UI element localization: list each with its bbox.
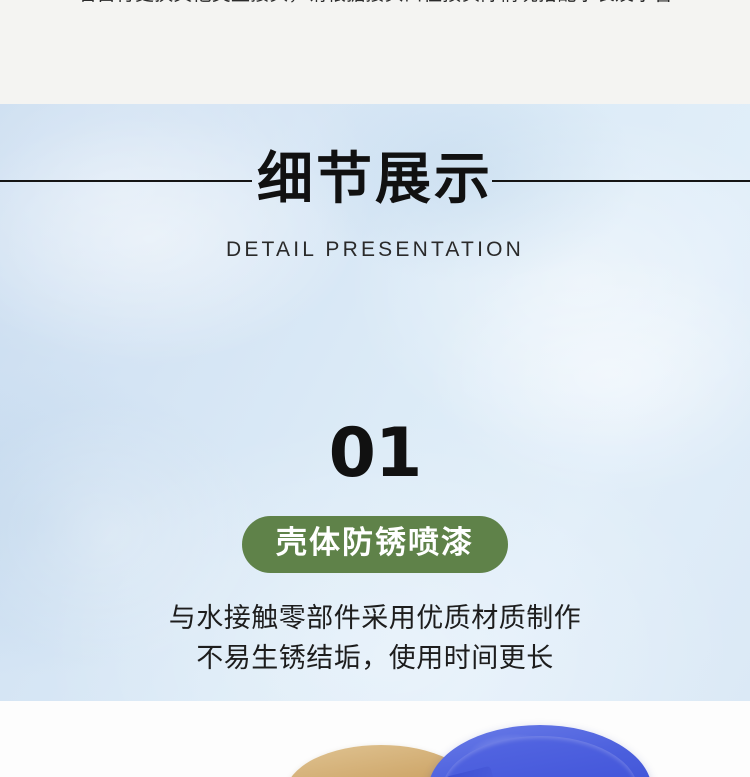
heading-rule-left <box>0 180 252 182</box>
previous-section-strip: 若自行更换其他类型接头，请根据接头口径按实际情况搭配水表及水管 <box>0 0 750 104</box>
feature-description: 与水接触零部件采用优质材质制作 不易生锈结垢，使用时间更长 <box>0 599 750 679</box>
product-photo-strip <box>0 701 750 777</box>
section-heading: 细节展示 DETAIL PRESENTATION <box>0 134 750 262</box>
clipped-note-text: 若自行更换其他类型接头，请根据接头口径按实际情况搭配水表及水管 <box>0 0 750 8</box>
feature-description-line-1: 与水接触零部件采用优质材质制作 <box>0 599 750 639</box>
page-subtitle: DETAIL PRESENTATION <box>0 238 750 262</box>
page-title: 细节展示 <box>241 152 509 208</box>
feature-description-line-2: 不易生锈结垢，使用时间更长 <box>0 639 750 679</box>
blue-plastic-cap-image <box>428 725 652 777</box>
feature-number: 01 <box>0 420 750 488</box>
heading-rule-right <box>492 180 750 182</box>
feature-block-01: 01 壳体防锈喷漆 与水接触零部件采用优质材质制作 不易生锈结垢，使用时间更长 <box>0 420 750 679</box>
heading-row: 细节展示 <box>0 134 750 226</box>
detail-presentation-page: 若自行更换其他类型接头，请根据接头口径按实际情况搭配水表及水管 细节展示 DET… <box>0 0 750 777</box>
feature-pill-label: 壳体防锈喷漆 <box>242 516 508 573</box>
